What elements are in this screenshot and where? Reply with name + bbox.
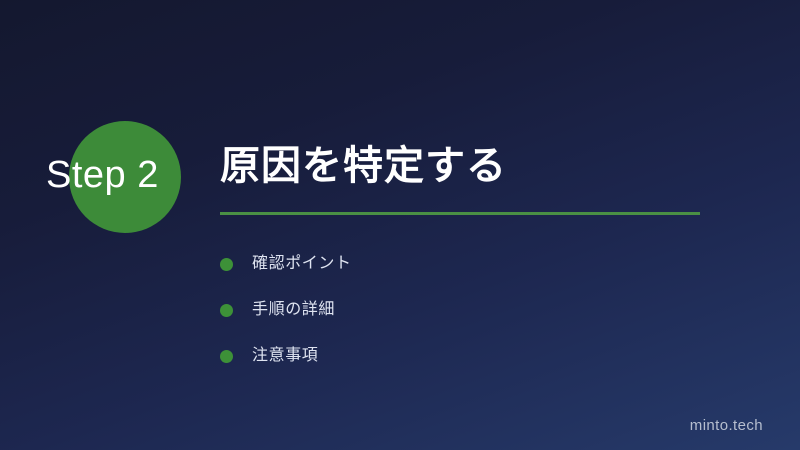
list-item: 確認ポイント bbox=[220, 241, 780, 287]
bullet-label: 注意事項 bbox=[252, 346, 318, 366]
bullet-dot-icon bbox=[220, 258, 233, 271]
title-divider-rule bbox=[220, 212, 700, 215]
bullet-list: 確認ポイント 手順の詳細 注意事項 bbox=[220, 241, 780, 379]
bullet-label: 確認ポイント bbox=[252, 254, 352, 274]
bullet-dot-icon bbox=[220, 304, 233, 317]
list-item: 手順の詳細 bbox=[220, 287, 780, 333]
bullet-label: 手順の詳細 bbox=[252, 300, 335, 320]
list-item: 注意事項 bbox=[220, 333, 780, 379]
bullet-dot-icon bbox=[220, 350, 233, 363]
footer-brand: minto.tech bbox=[690, 416, 763, 436]
presentation-slide: Step 2 原因を特定する 確認ポイント 手順の詳細 注意事項 minto.t… bbox=[0, 0, 800, 450]
slide-title: 原因を特定する bbox=[220, 140, 780, 192]
step-badge: Step 2 bbox=[0, 0, 220, 450]
step-label: Step 2 bbox=[46, 152, 206, 198]
slide-content: 原因を特定する 確認ポイント 手順の詳細 注意事項 bbox=[220, 140, 780, 379]
